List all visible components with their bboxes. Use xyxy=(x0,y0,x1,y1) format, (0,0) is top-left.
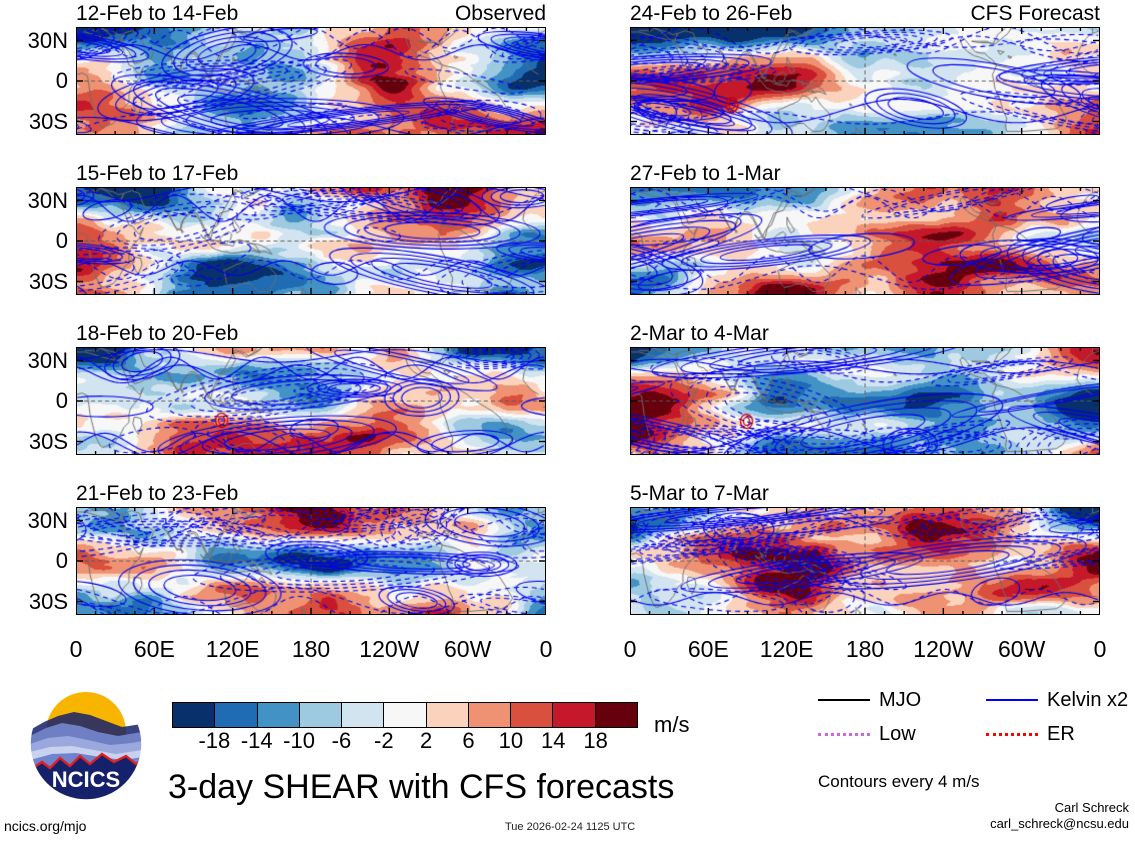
colorbar-tick-label: -14 xyxy=(241,729,273,753)
x-axis-tick-label: 120E xyxy=(760,636,814,662)
map-plot-area xyxy=(630,347,1100,455)
shear-anomaly-map xyxy=(631,348,1099,454)
colorbar-tick-label: -18 xyxy=(198,729,230,753)
colorbar-tick-label: -2 xyxy=(374,729,394,753)
x-axis-tick-label: 60W xyxy=(444,636,491,662)
y-axis-tick-label: 30S xyxy=(6,431,68,453)
shear-anomaly-map xyxy=(77,508,545,614)
map-panel: 21-Feb to 23-Feb30N030S xyxy=(6,483,546,615)
ncics-logo: NCICS xyxy=(28,686,144,802)
map-plot-area xyxy=(630,27,1100,135)
colorbar-segment xyxy=(384,703,426,727)
colorbar-tick-label: 6 xyxy=(462,729,474,753)
map-plot-area xyxy=(630,187,1100,295)
author-credit: Carl Schreck carl_schreck@ncsu.edu xyxy=(990,800,1129,832)
legend-line-swatch xyxy=(818,699,870,701)
legend-label: Kelvin x2 xyxy=(1047,690,1128,710)
panel-title: 2-Mar to 4-Mar xyxy=(630,323,769,345)
legend-label: Low xyxy=(879,724,916,744)
legend-item: Kelvin x2 xyxy=(986,690,1128,710)
contour-interval-note: Contours every 4 m/s xyxy=(818,772,980,792)
colorbar-tick-label: -10 xyxy=(283,729,315,753)
y-axis-tick-label: 30S xyxy=(6,111,68,133)
shear-anomaly-map xyxy=(631,28,1099,134)
legend-line-swatch xyxy=(986,733,1038,736)
y-axis-tick-label: 0 xyxy=(6,550,68,572)
colorbar-tick-labels: -18-14-10-6-226101418 xyxy=(172,729,638,755)
colorbar-tick-label: -6 xyxy=(332,729,352,753)
colorbar xyxy=(172,702,638,728)
panel-grid: 12-Feb to 14-FebObserved30N030S15-Feb to… xyxy=(0,0,1135,628)
panel-title: 27-Feb to 1-Mar xyxy=(630,163,781,185)
colorbar-tick-label: 10 xyxy=(499,729,523,753)
legend-item: ER xyxy=(986,724,1075,744)
map-panel: 18-Feb to 20-Feb30N030S xyxy=(6,323,546,455)
panel-title: 12-Feb to 14-Feb xyxy=(76,3,238,25)
map-plot-area xyxy=(76,507,546,615)
x-axis-tick-label: 120E xyxy=(206,636,260,662)
legend-item: Low xyxy=(818,724,916,744)
panel-column-header: CFS Forecast xyxy=(970,3,1100,25)
x-axis-right: 060E120E180120W60W0 xyxy=(630,636,1100,662)
colorbar-segment xyxy=(553,703,595,727)
panel-title: 24-Feb to 26-Feb xyxy=(630,3,792,25)
map-panel: 24-Feb to 26-FebCFS Forecast xyxy=(560,3,1100,135)
x-axis-tick-label: 120W xyxy=(913,636,973,662)
map-plot-area xyxy=(630,507,1100,615)
map-plot-area xyxy=(76,347,546,455)
y-axis-tick-label: 0 xyxy=(6,390,68,412)
map-panel: 15-Feb to 17-Feb30N030S xyxy=(6,163,546,295)
x-axis-tick-label: 60W xyxy=(998,636,1045,662)
panel-title: 5-Mar to 7-Mar xyxy=(630,483,769,505)
panel-title: 18-Feb to 20-Feb xyxy=(76,323,238,345)
author-name: Carl Schreck xyxy=(990,800,1129,816)
map-panel: 27-Feb to 1-Mar xyxy=(560,163,1100,295)
x-axis-left: 060E120E180120W60W0 xyxy=(76,636,546,662)
colorbar-tick-label: 18 xyxy=(583,729,607,753)
colorbar-segment xyxy=(511,703,553,727)
y-axis-tick-label: 30S xyxy=(6,591,68,613)
y-axis-tick-label: 0 xyxy=(6,70,68,92)
y-axis-tick-label: 30N xyxy=(6,350,68,372)
panel-column-header: Observed xyxy=(455,3,546,25)
colorbar-tick-label: 2 xyxy=(420,729,432,753)
author-email[interactable]: carl_schreck@ncsu.edu xyxy=(990,816,1129,832)
logo-text: NCICS xyxy=(52,767,120,792)
colorbar-segment xyxy=(596,703,637,727)
x-axis-tick-label: 0 xyxy=(624,636,637,662)
colorbar-segment xyxy=(342,703,384,727)
map-plot-area xyxy=(76,27,546,135)
x-axis-tick-label: 0 xyxy=(540,636,553,662)
y-axis-tick-label: 30N xyxy=(6,510,68,532)
colorbar-segment xyxy=(300,703,342,727)
figure-title: 3-day SHEAR with CFS forecasts xyxy=(168,768,674,807)
y-axis-tick-label: 0 xyxy=(6,230,68,252)
x-axis-tick-label: 0 xyxy=(1094,636,1107,662)
map-panel: 2-Mar to 4-Mar xyxy=(560,323,1100,455)
colorbar-segment xyxy=(173,703,215,727)
x-axis-tick-label: 180 xyxy=(292,636,330,662)
y-axis-tick-label: 30N xyxy=(6,30,68,52)
x-axis-tick-label: 180 xyxy=(846,636,884,662)
colorbar-segment xyxy=(215,703,257,727)
legend-line-swatch xyxy=(818,733,870,736)
panel-title: 21-Feb to 23-Feb xyxy=(76,483,238,505)
x-axis-tick-label: 60E xyxy=(134,636,175,662)
shear-anomaly-map xyxy=(77,188,545,294)
colorbar-segment xyxy=(469,703,511,727)
legend-line-swatch xyxy=(986,699,1038,701)
colorbar-segment xyxy=(427,703,469,727)
map-panel: 12-Feb to 14-FebObserved30N030S xyxy=(6,3,546,135)
map-plot-area xyxy=(76,187,546,295)
site-url[interactable]: ncics.org/mjo xyxy=(4,818,86,834)
colorbar-segment xyxy=(258,703,300,727)
colorbar-unit-label: m/s xyxy=(654,712,689,738)
contour-legend: MJOKelvin x2LowER xyxy=(818,690,1118,752)
y-axis-tick-label: 30N xyxy=(6,190,68,212)
shear-anomaly-map xyxy=(77,28,545,134)
shear-anomaly-map xyxy=(631,508,1099,614)
x-axis-tick-label: 0 xyxy=(70,636,83,662)
x-axis-tick-label: 120W xyxy=(359,636,419,662)
legend-label: MJO xyxy=(879,690,921,710)
generation-timestamp: Tue 2026-02-24 1125 UTC xyxy=(505,821,635,833)
map-panel: 5-Mar to 7-Mar xyxy=(560,483,1100,615)
panel-title: 15-Feb to 17-Feb xyxy=(76,163,238,185)
colorbar-tick-label: 14 xyxy=(541,729,565,753)
legend-item: MJO xyxy=(818,690,921,710)
legend-label: ER xyxy=(1047,724,1075,744)
shear-anomaly-map xyxy=(77,348,545,454)
shear-anomaly-map xyxy=(631,188,1099,294)
x-axis-tick-label: 60E xyxy=(688,636,729,662)
y-axis-tick-label: 30S xyxy=(6,271,68,293)
